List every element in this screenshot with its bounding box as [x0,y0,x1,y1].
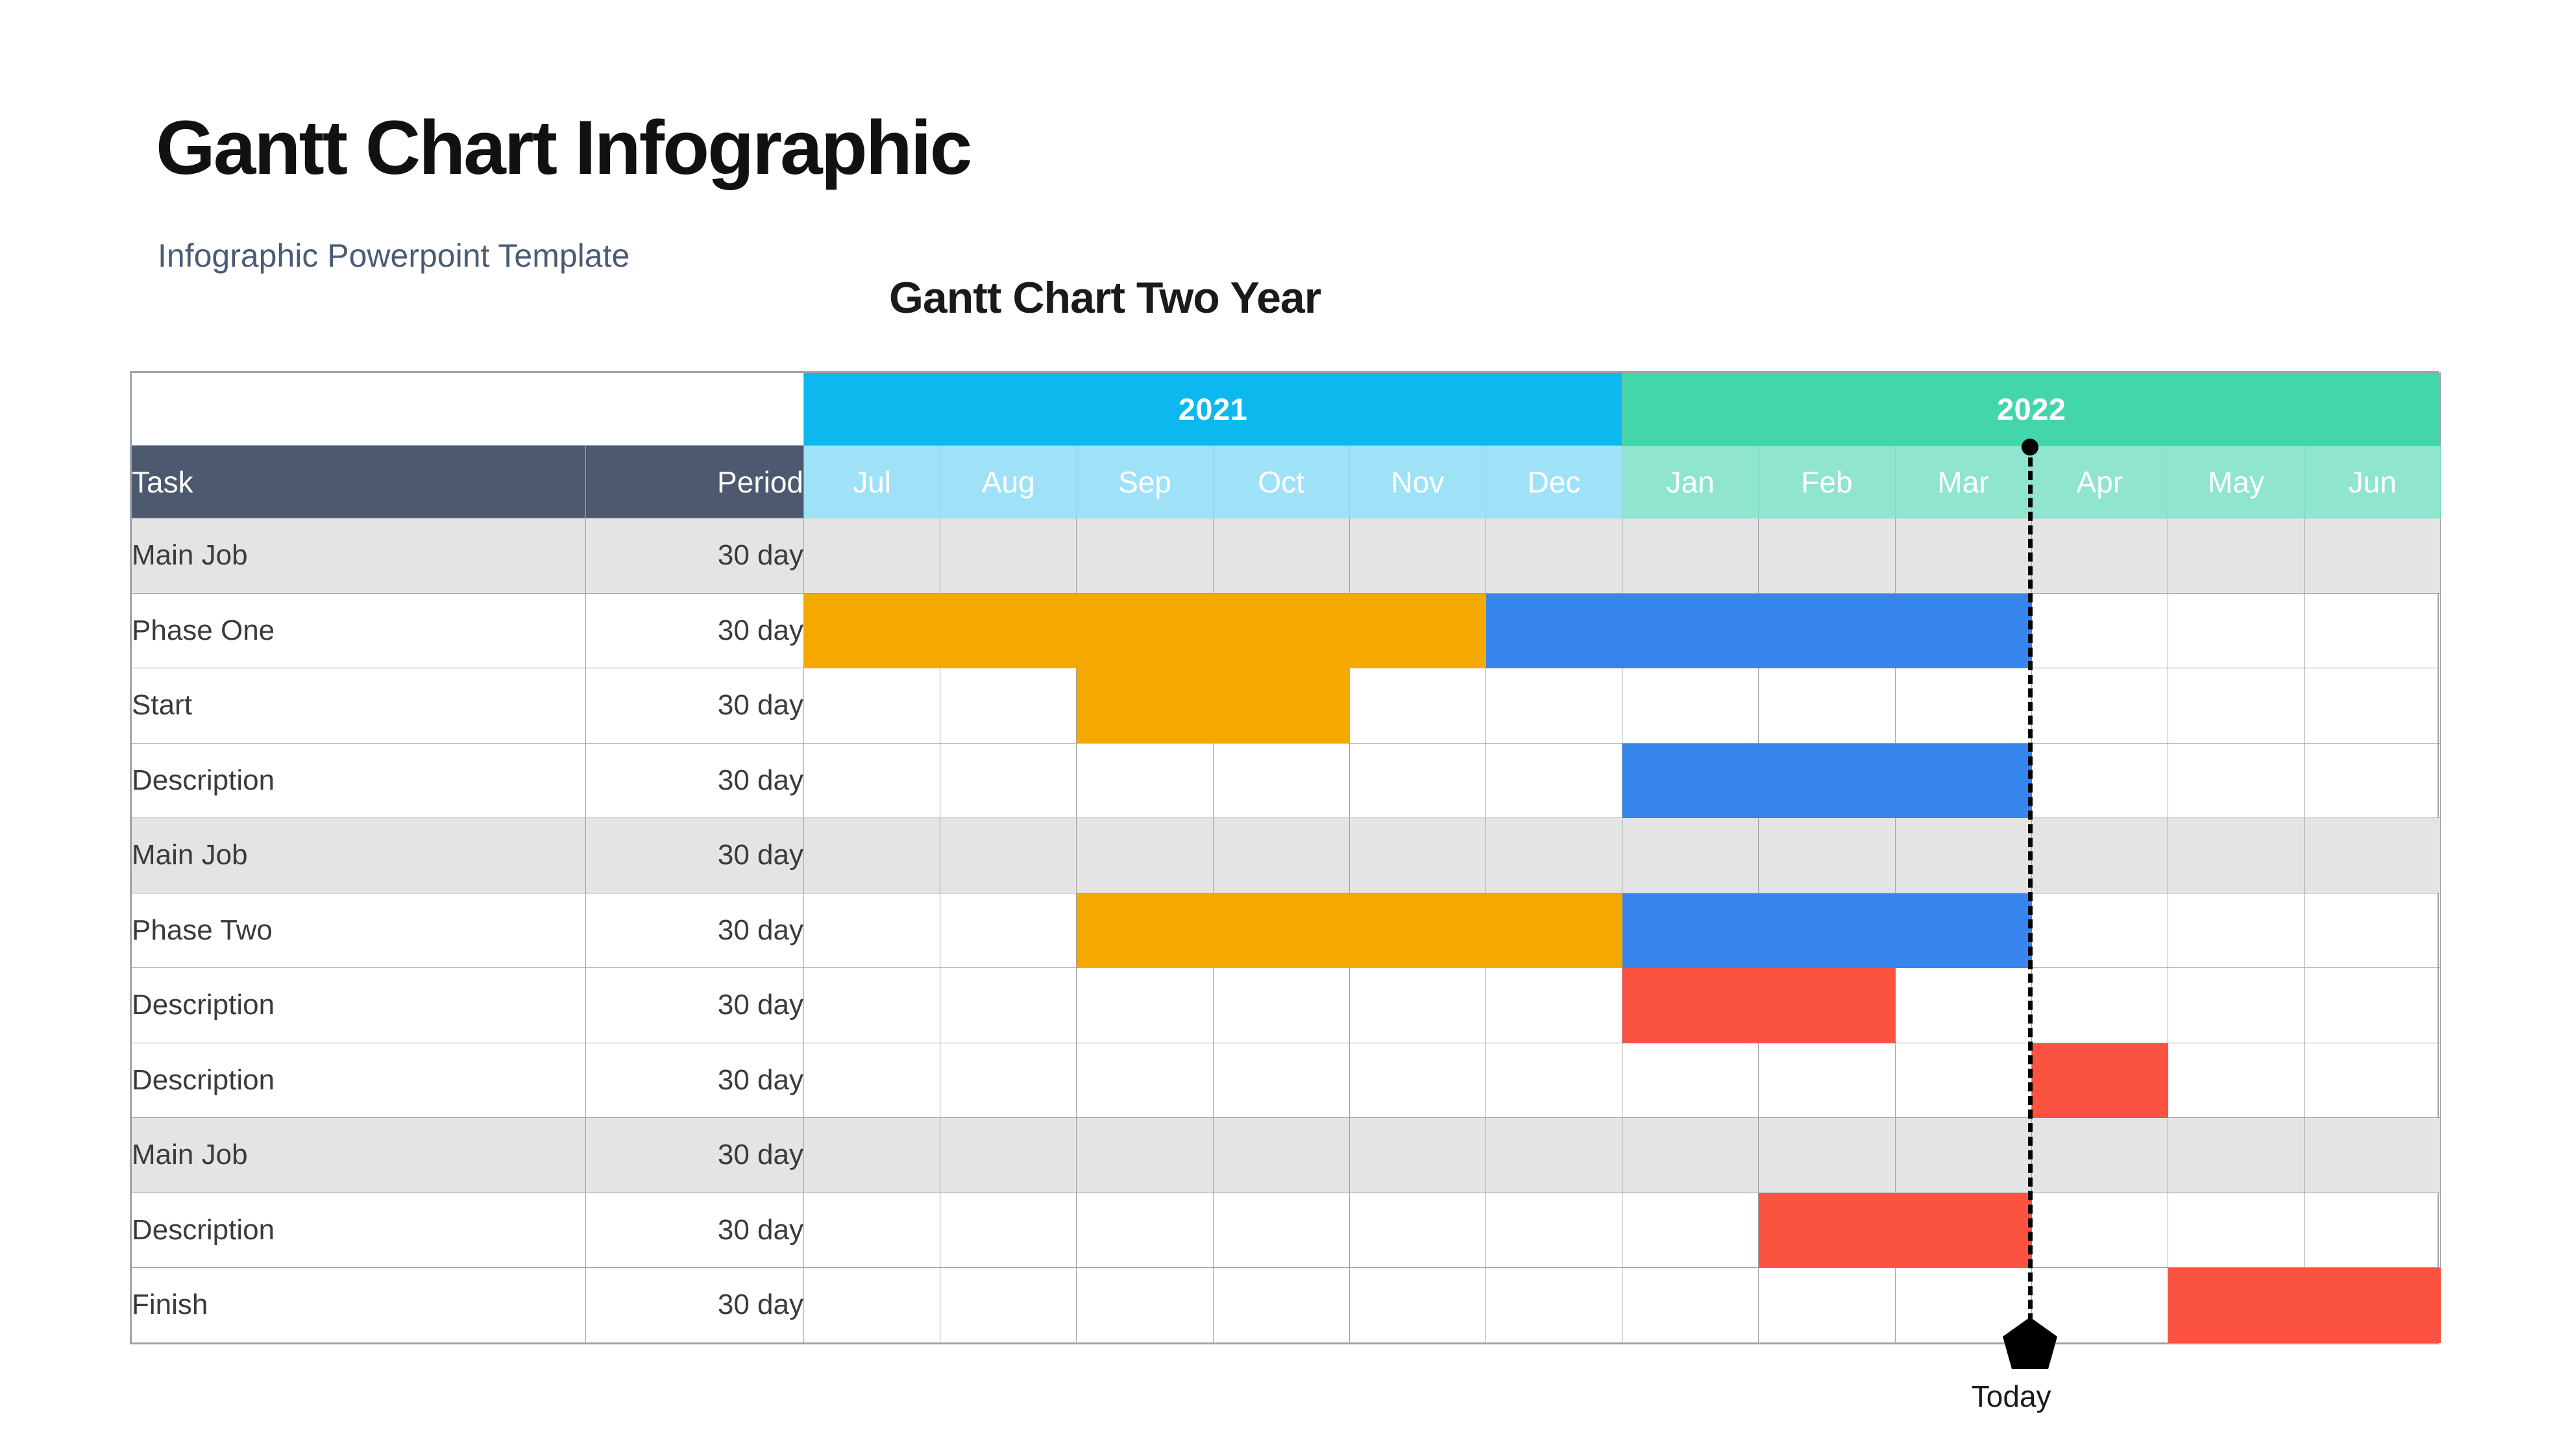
month-header-Sep[interactable]: Sep [1077,446,1213,518]
gantt-cell-Jul [804,1268,940,1343]
gantt-cell-Jul [804,968,940,1043]
gantt-cell-Nov [1349,818,1486,893]
gantt-cell-Nov [1349,1193,1486,1268]
gantt-cell-Nov [1349,668,1486,744]
gantt-cell-Sep [1077,968,1213,1043]
gantt-cell-Mar [1895,518,2031,594]
gantt-cell-May [2168,593,2304,668]
gantt-cell-Apr [2031,968,2168,1043]
table-row[interactable]: Description30 day [132,743,2441,818]
gantt-bar-blue-Jan[interactable] [1622,593,1759,668]
gantt-bar-blue-Mar[interactable] [1895,893,2031,968]
column-header-task[interactable]: Task [132,446,586,518]
gantt-cell-Feb [1759,668,1895,744]
gantt-bar-orange-Nov[interactable] [1349,893,1486,968]
gantt-cell-Jun [2305,893,2441,968]
year-band-row: 20212022 [132,373,2441,446]
gantt-table: 20212022 TaskPeriodJulAugSepOctNovDecJan… [131,372,2441,1343]
row-task-label: Description [132,1043,586,1118]
gantt-bar-blue-Feb[interactable] [1759,593,1895,668]
gantt-cell-Jan [1622,1118,1759,1193]
month-header-Jul[interactable]: Jul [804,446,940,518]
gantt-cell-Jun [2305,818,2441,893]
gantt-cell-Jul [804,893,940,968]
gantt-cell-Nov [1349,518,1486,594]
gantt-cell-Aug [940,1268,1077,1343]
month-header-Mar[interactable]: Mar [1895,446,2031,518]
row-period-value: 30 day [586,1193,804,1268]
gantt-cell-Jul [804,668,940,744]
gantt-bar-orange-Nov[interactable] [1349,593,1486,668]
row-period-value: 30 day [586,1118,804,1193]
year-band-2022: 2022 [1622,373,2441,446]
gantt-cell-Nov [1349,743,1486,818]
gantt-cell-Oct [1213,1268,1349,1343]
gantt-cell-May [2168,668,2304,744]
table-row[interactable]: Phase One30 day [132,593,2441,668]
gantt-cell-Nov [1349,1118,1486,1193]
gantt-bar-blue-Dec[interactable] [1486,593,1622,668]
gantt-bar-orange-Sep[interactable] [1077,668,1213,744]
row-period-value: 30 day [586,968,804,1043]
gantt-cell-Apr [2031,668,2168,744]
gantt-bar-red-Mar[interactable] [1895,1193,2031,1268]
row-task-label: Main Job [132,1118,586,1193]
gantt-cell-Dec [1486,668,1622,744]
gantt-cell-Jan [1622,518,1759,594]
gantt-cell-Feb [1759,818,1895,893]
gantt-cell-Aug [940,1043,1077,1118]
gantt-cell-Jun [2305,968,2441,1043]
chart-title: Gantt Chart Two Year [889,273,1321,323]
gantt-cell-Apr [2031,743,2168,818]
row-task-label: Start [132,668,586,744]
gantt-cell-Aug [940,968,1077,1043]
gantt-cell-Sep [1077,1118,1213,1193]
gantt-cell-Dec [1486,743,1622,818]
page-subtitle: Infographic Powerpoint Template [158,237,630,274]
gantt-table-body: Main Job30 dayPhase One30 dayStart30 day… [132,518,2441,1343]
gantt-cell-May [2168,1118,2304,1193]
gantt-bar-blue-Jan[interactable] [1622,743,1759,818]
table-row[interactable]: Start30 day [132,668,2441,744]
month-header-Aug[interactable]: Aug [940,446,1077,518]
table-row[interactable]: Phase Two30 day [132,893,2441,968]
month-header-Apr[interactable]: Apr [2031,446,2168,518]
gantt-bar-orange-Dec[interactable] [1486,893,1622,968]
row-task-label: Finish [132,1268,586,1343]
gantt-cell-Jul [804,518,940,594]
gantt-cell-Oct [1213,1118,1349,1193]
gantt-cell-Apr [2031,893,2168,968]
gantt-cell-Jun [2305,668,2441,744]
gantt-bar-orange-Sep[interactable] [1077,593,1213,668]
gantt-cell-Mar [1895,818,2031,893]
page-title: Gantt Chart Infographic [156,104,970,192]
gantt-cell-May [2168,1193,2304,1268]
gantt-bar-blue-Mar[interactable] [1895,593,2031,668]
gantt-cell-Feb [1759,1118,1895,1193]
gantt-cell-Apr [2031,1193,2168,1268]
gantt-bar-blue-Feb[interactable] [1759,743,1895,818]
gantt-cell-Aug [940,893,1077,968]
gantt-cell-Dec [1486,968,1622,1043]
month-header-Nov[interactable]: Nov [1349,446,1486,518]
gantt-cell-Oct [1213,1043,1349,1118]
gantt-bar-red-Feb[interactable] [1759,1193,1895,1268]
month-header-Dec[interactable]: Dec [1486,446,1622,518]
gantt-cell-Sep [1077,743,1213,818]
gantt-bar-orange-Aug[interactable] [940,593,1077,668]
table-row[interactable]: Main Job30 day [132,818,2441,893]
year-band-2021: 2021 [804,373,1622,446]
row-period-value: 30 day [586,893,804,968]
gantt-cell-Dec [1486,1268,1622,1343]
gantt-cell-Jan [1622,668,1759,744]
row-task-label: Description [132,1193,586,1268]
gantt-cell-Jul [804,1043,940,1118]
gantt-bar-orange-Oct[interactable] [1213,593,1349,668]
gantt-cell-Aug [940,1118,1077,1193]
gantt-cell-Feb [1759,1268,1895,1343]
gantt-bar-blue-Feb[interactable] [1759,893,1895,968]
gantt-bar-red-Jun[interactable] [2305,1268,2441,1343]
gantt-cell-Nov [1349,1268,1486,1343]
gantt-cell-Aug [940,818,1077,893]
row-period-value: 30 day [586,818,804,893]
gantt-cell-Feb [1759,518,1895,594]
table-row[interactable]: Main Job30 day [132,1118,2441,1193]
gantt-cell-Dec [1486,1118,1622,1193]
gantt-cell-Jun [2305,518,2441,594]
gantt-bar-orange-Jul[interactable] [804,593,940,668]
row-period-value: 30 day [586,743,804,818]
gantt-cell-May [2168,743,2304,818]
gantt-cell-Dec [1486,1193,1622,1268]
gantt-bar-orange-Oct[interactable] [1213,668,1349,744]
gantt-cell-Feb [1759,1043,1895,1118]
month-header-Jun[interactable]: Jun [2305,446,2441,518]
gantt-cell-Oct [1213,818,1349,893]
today-label: Today [1972,1379,2051,1414]
month-header-May[interactable]: May [2168,446,2304,518]
month-header-Jan[interactable]: Jan [1622,446,1759,518]
gantt-cell-Jan [1622,818,1759,893]
gantt-cell-Jun [2305,1043,2441,1118]
gantt-cell-Aug [940,1193,1077,1268]
gantt-cell-Oct [1213,743,1349,818]
row-task-label: Phase Two [132,893,586,968]
gantt-cell-Sep [1077,1193,1213,1268]
row-task-label: Description [132,968,586,1043]
table-row[interactable]: Description30 day [132,1043,2441,1118]
today-dot-icon [2022,439,2038,455]
gantt-bar-red-May[interactable] [2168,1268,2304,1343]
gantt-cell-May [2168,1043,2304,1118]
today-marker-icon [1998,1317,2062,1369]
row-task-label: Main Job [132,818,586,893]
gantt-cell-Sep [1077,518,1213,594]
month-header-Oct[interactable]: Oct [1213,446,1349,518]
gantt-cell-Sep [1077,1268,1213,1343]
column-header-row: TaskPeriodJulAugSepOctNovDecJanFebMarApr… [132,446,2441,518]
gantt-cell-Mar [1895,1118,2031,1193]
table-row[interactable]: Description30 day [132,968,2441,1043]
row-period-value: 30 day [586,1268,804,1343]
gantt-cell-Jun [2305,1118,2441,1193]
table-row[interactable]: Description30 day [132,1193,2441,1268]
gantt-bar-orange-Oct[interactable] [1213,893,1349,968]
gantt-cell-May [2168,818,2304,893]
gantt-cell-Sep [1077,1043,1213,1118]
gantt-cell-Apr [2031,593,2168,668]
gantt-cell-Dec [1486,518,1622,594]
gantt-cell-Jul [804,743,940,818]
gantt-cell-Jul [804,1193,940,1268]
gantt-cell-May [2168,968,2304,1043]
gantt-chart: 20212022 TaskPeriodJulAugSepOctNovDecJan… [130,371,2439,1344]
gantt-cell-Dec [1486,1043,1622,1118]
gantt-cell-Jan [1622,1043,1759,1118]
gantt-cell-Apr [2031,518,2168,594]
gantt-bar-orange-Sep[interactable] [1077,893,1213,968]
gantt-cell-Jan [1622,1268,1759,1343]
today-line [2028,444,2033,1350]
gantt-bar-blue-Mar[interactable] [1895,743,2031,818]
gantt-cell-Aug [940,668,1077,744]
gantt-cell-May [2168,893,2304,968]
gantt-cell-Jun [2305,593,2441,668]
gantt-bar-red-Apr[interactable] [2031,1043,2168,1118]
table-row[interactable]: Finish30 day [132,1268,2441,1343]
gantt-cell-Jul [804,818,940,893]
gantt-cell-Sep [1077,818,1213,893]
gantt-bar-blue-Jan[interactable] [1622,893,1759,968]
month-header-Feb[interactable]: Feb [1759,446,1895,518]
gantt-cell-May [2168,518,2304,594]
gantt-cell-Jun [2305,743,2441,818]
gantt-bar-red-Feb[interactable] [1759,968,1895,1043]
gantt-bar-red-Jan[interactable] [1622,968,1759,1043]
row-period-value: 30 day [586,518,804,594]
row-task-label: Description [132,743,586,818]
gantt-cell-Oct [1213,518,1349,594]
gantt-cell-Aug [940,518,1077,594]
gantt-cell-Aug [940,743,1077,818]
gantt-cell-Nov [1349,968,1486,1043]
row-task-label: Phase One [132,593,586,668]
gantt-cell-Oct [1213,1193,1349,1268]
gantt-cell-Apr [2031,818,2168,893]
gantt-cell-Jun [2305,1193,2441,1268]
gantt-cell-Mar [1895,668,2031,744]
row-period-value: 30 day [586,668,804,744]
gantt-cell-Oct [1213,968,1349,1043]
gantt-cell-Mar [1895,1043,2031,1118]
gantt-cell-Apr [2031,1118,2168,1193]
column-header-period[interactable]: Period [586,446,804,518]
slide-canvas: Gantt Chart Infographic Infographic Powe… [0,0,2568,1456]
gantt-cell-Mar [1895,968,2031,1043]
gantt-table-head: 20212022 TaskPeriodJulAugSepOctNovDecJan… [132,373,2441,518]
gantt-cell-Jul [804,1118,940,1193]
table-row[interactable]: Main Job30 day [132,518,2441,594]
gantt-cell-Dec [1486,818,1622,893]
row-period-value: 30 day [586,1043,804,1118]
row-period-value: 30 day [586,593,804,668]
year-band-spacer [132,373,804,446]
gantt-cell-Nov [1349,1043,1486,1118]
row-task-label: Main Job [132,518,586,594]
gantt-cell-Jan [1622,1193,1759,1268]
